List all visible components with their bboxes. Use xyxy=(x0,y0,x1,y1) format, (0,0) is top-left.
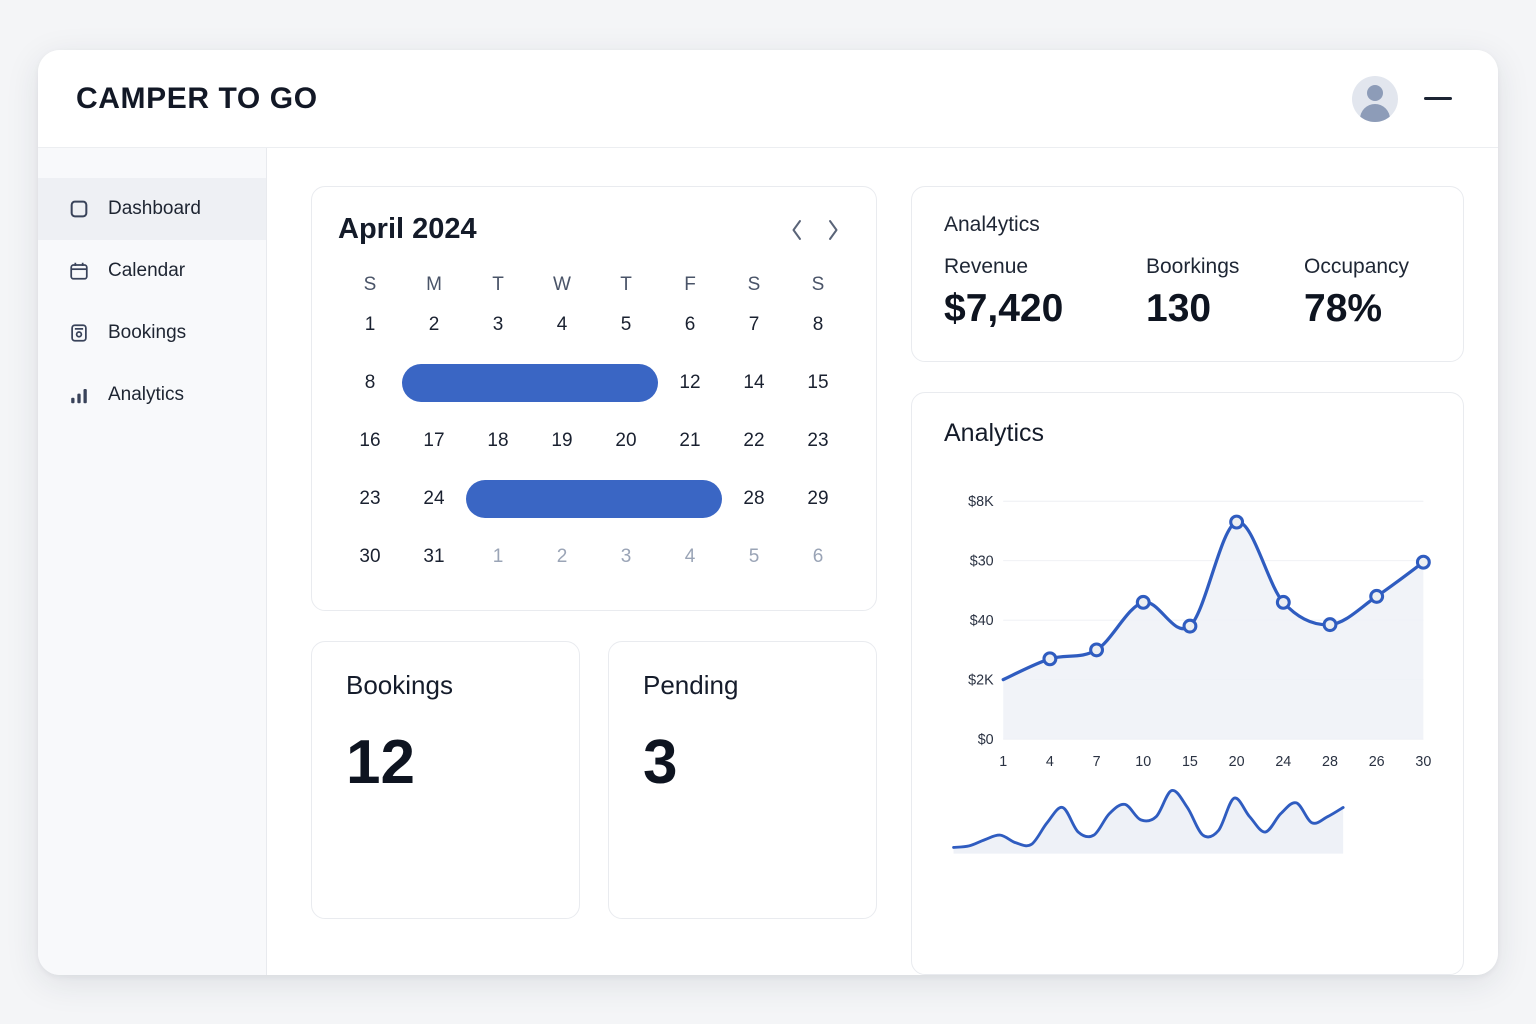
chart-xtick-label: 1 xyxy=(999,754,1007,770)
calendar-day-cell[interactable]: 4 xyxy=(658,528,722,586)
weekday-label: T xyxy=(466,274,530,296)
chart-xtick-label: 4 xyxy=(1046,754,1054,770)
booking-box-icon xyxy=(68,322,90,344)
sparkline-chart xyxy=(944,781,1431,867)
calendar-day-cell[interactable]: 2 xyxy=(402,296,466,354)
sidebar: Dashboard Calendar Bookings xyxy=(38,148,267,975)
user-avatar-icon[interactable] xyxy=(1352,76,1398,122)
weekday-label: S xyxy=(338,274,402,296)
calendar-card: April 2024 S M T xyxy=(311,186,877,611)
sidebar-item-label: Bookings xyxy=(108,322,186,344)
kpi-metric-occupancy: Occupancy 78% xyxy=(1304,255,1409,331)
weekday-label: M xyxy=(402,274,466,296)
calendar-day-cell[interactable]: 15 xyxy=(786,354,850,412)
kpi-metrics: Revenue $7,420 Boorkings 130 Occupancy 7… xyxy=(944,255,1431,331)
kpi-metric-bookings: Boorkings 130 xyxy=(1146,255,1304,331)
chart-xtick-label: 26 xyxy=(1369,754,1385,770)
booking-bar[interactable] xyxy=(402,364,658,402)
calendar-icon xyxy=(68,260,90,282)
chart-xtick-label: 28 xyxy=(1322,754,1338,770)
main-content: April 2024 S M T xyxy=(267,148,1498,975)
calendar-header: April 2024 xyxy=(338,213,850,246)
calendar-day-cell[interactable]: 30 xyxy=(338,528,402,586)
sidebar-item-calendar[interactable]: Calendar xyxy=(38,240,266,302)
calendar-week-row: 23242829 xyxy=(338,470,850,528)
kpi-card: Anal4ytics Revenue $7,420 Boorkings 130 … xyxy=(911,186,1464,362)
booking-bar[interactable] xyxy=(466,480,722,518)
calendar-day-cell[interactable]: 4 xyxy=(530,296,594,354)
sidebar-item-label: Analytics xyxy=(108,384,184,406)
kpi-metric-value: 78% xyxy=(1304,287,1409,331)
calendar-day-cell[interactable]: 21 xyxy=(658,412,722,470)
calendar-weekday-row: S M T W T F S S xyxy=(338,274,850,296)
chart-data-point[interactable] xyxy=(1324,619,1336,631)
square-icon xyxy=(68,198,90,220)
calendar-week-row: 8121415 xyxy=(338,354,850,412)
calendar-day-cell[interactable]: 6 xyxy=(786,528,850,586)
kpi-metric-revenue: Revenue $7,420 xyxy=(944,255,1146,331)
calendar-day-cell[interactable]: 28 xyxy=(722,470,786,528)
kpi-metric-label: Revenue xyxy=(944,255,1146,279)
calendar-day-cell[interactable]: 17 xyxy=(402,412,466,470)
chart-plot-area: $8K$30$40$2K$014710152024282630 xyxy=(944,466,1431,952)
calendar-day-cell[interactable]: 20 xyxy=(594,412,658,470)
kpi-card-title: Anal4ytics xyxy=(944,213,1431,237)
analytics-chart-card: Analytics $8K$30$40$2K$01471015202428263… xyxy=(911,392,1464,975)
chart-ytick-label: $30 xyxy=(970,553,994,569)
chart-xtick-label: 30 xyxy=(1415,754,1431,770)
weekday-label: T xyxy=(594,274,658,296)
stat-value: 3 xyxy=(643,727,876,798)
app-window: CAMPER TO GO Dashboard xyxy=(38,50,1498,975)
chart-data-point[interactable] xyxy=(1417,556,1429,568)
calendar-day-cell[interactable]: 8 xyxy=(338,354,402,412)
calendar-day-cell[interactable]: 12 xyxy=(658,354,722,412)
chevron-right-icon[interactable] xyxy=(826,219,840,241)
header-actions xyxy=(1352,76,1452,122)
weekday-label: W xyxy=(530,274,594,296)
calendar-day-cell[interactable]: 7 xyxy=(722,296,786,354)
minus-dash-icon[interactable] xyxy=(1424,97,1452,100)
app-header: CAMPER TO GO xyxy=(38,50,1498,148)
calendar-day-cell[interactable]: 24 xyxy=(402,470,466,528)
calendar-day-cell[interactable]: 14 xyxy=(722,354,786,412)
weekday-label: S xyxy=(786,274,850,296)
chart-ytick-label: $0 xyxy=(978,732,994,748)
sidebar-item-bookings[interactable]: Bookings xyxy=(38,302,266,364)
stat-card-pending[interactable]: Pending 3 xyxy=(608,641,877,919)
calendar-week-row: 3031123456 xyxy=(338,528,850,586)
calendar-day-cell[interactable]: 5 xyxy=(722,528,786,586)
calendar-week-row: 12345678 xyxy=(338,296,850,354)
sidebar-item-dashboard[interactable]: Dashboard xyxy=(38,178,266,240)
calendar-day-cell[interactable]: 22 xyxy=(722,412,786,470)
calendar-week-row: 1617181920212223 xyxy=(338,412,850,470)
calendar-day-cell[interactable]: 29 xyxy=(786,470,850,528)
sidebar-item-analytics[interactable]: Analytics xyxy=(38,364,266,426)
chart-title: Analytics xyxy=(944,419,1431,448)
calendar-day-cell[interactable]: 6 xyxy=(658,296,722,354)
kpi-metric-label: Boorkings xyxy=(1146,255,1304,279)
calendar-day-cell[interactable]: 23 xyxy=(338,470,402,528)
right-column: Anal4ytics Revenue $7,420 Boorkings 130 … xyxy=(911,186,1464,975)
kpi-metric-label: Occupancy xyxy=(1304,255,1409,279)
page-title: CAMPER TO GO xyxy=(76,82,318,116)
calendar-day-cell[interactable]: 1 xyxy=(466,528,530,586)
kpi-metric-value: $7,420 xyxy=(944,287,1146,331)
calendar-day-cell[interactable]: 23 xyxy=(786,412,850,470)
calendar-day-cell[interactable]: 31 xyxy=(402,528,466,586)
chart-xtick-label: 10 xyxy=(1135,754,1151,770)
avatar-head xyxy=(1367,85,1383,101)
chart-data-point[interactable] xyxy=(1091,644,1103,656)
chart-data-point[interactable] xyxy=(1231,516,1243,528)
calendar-grid: 1234567881214151617181920212223232428293… xyxy=(338,296,850,586)
chart-data-point[interactable] xyxy=(1184,620,1196,632)
chart-data-point[interactable] xyxy=(1137,596,1149,608)
sidebar-item-label: Dashboard xyxy=(108,198,201,220)
chart-ytick-label: $2K xyxy=(968,672,994,688)
kpi-metric-value: 130 xyxy=(1146,287,1304,331)
chart-data-point[interactable] xyxy=(1277,596,1289,608)
left-column: April 2024 S M T xyxy=(311,186,877,975)
calendar-day-cell[interactable]: 8 xyxy=(786,296,850,354)
stat-value: 12 xyxy=(346,727,579,798)
stat-label: Bookings xyxy=(346,670,579,701)
calendar-day-cell[interactable]: 19 xyxy=(530,412,594,470)
chart-xtick-label: 15 xyxy=(1182,754,1198,770)
calendar-day-cell[interactable]: 1 xyxy=(338,296,402,354)
chart-xtick-label: 7 xyxy=(1093,754,1101,770)
calendar-day-cell[interactable]: 2 xyxy=(530,528,594,586)
chart-data-point[interactable] xyxy=(1371,590,1383,602)
calendar-day-cell[interactable]: 3 xyxy=(466,296,530,354)
calendar-nav xyxy=(790,219,850,241)
line-chart[interactable]: $8K$30$40$2K$014710152024282630 xyxy=(944,466,1431,781)
chart-xtick-label: 24 xyxy=(1275,754,1291,770)
calendar-day-cell[interactable]: 5 xyxy=(594,296,658,354)
avatar-body xyxy=(1360,104,1390,122)
weekday-label: S xyxy=(722,274,786,296)
stat-card-row: Bookings 12 Pending 3 xyxy=(311,641,877,919)
calendar-month-title: April 2024 xyxy=(338,213,477,246)
chart-area-fill xyxy=(1003,522,1423,739)
stat-label: Pending xyxy=(643,670,876,701)
app-body: Dashboard Calendar Bookings xyxy=(38,148,1498,975)
weekday-label: F xyxy=(658,274,722,296)
bar-chart-icon xyxy=(68,384,90,406)
chevron-left-icon[interactable] xyxy=(790,219,804,241)
chart-ytick-label: $8K xyxy=(968,494,994,510)
chart-ytick-label: $40 xyxy=(970,613,994,629)
calendar-day-cell[interactable]: 18 xyxy=(466,412,530,470)
chart-data-point[interactable] xyxy=(1044,653,1056,665)
calendar-day-cell[interactable]: 3 xyxy=(594,528,658,586)
stat-card-bookings[interactable]: Bookings 12 xyxy=(311,641,580,919)
calendar-day-cell[interactable]: 16 xyxy=(338,412,402,470)
chart-xtick-label: 20 xyxy=(1229,754,1245,770)
sidebar-item-label: Calendar xyxy=(108,260,185,282)
